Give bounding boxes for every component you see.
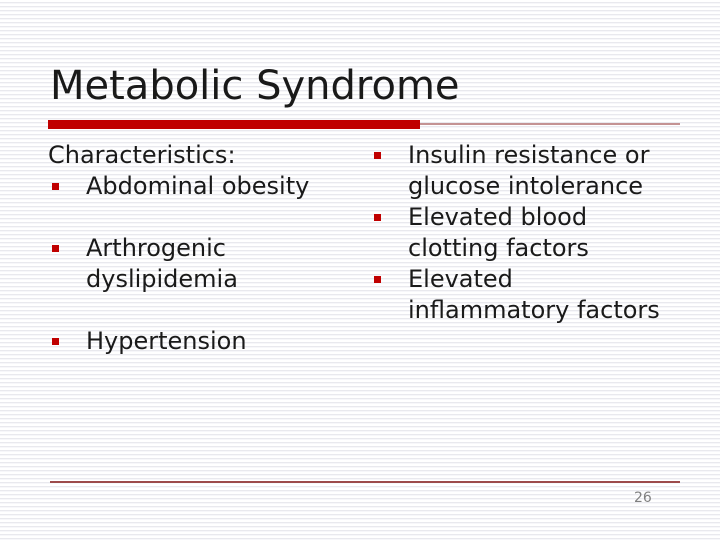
list-item-label: Elevated inflammatory factors <box>408 265 660 324</box>
square-bullet-icon <box>374 152 381 159</box>
list-item-label: Hypertension <box>86 327 247 355</box>
list-item-label: Abdominal obesity <box>86 172 309 200</box>
page-number: 26 <box>634 489 674 507</box>
list-item: Insulin resistance or glucose intoleranc… <box>368 140 668 202</box>
list-item: Abdominal obesity <box>46 171 346 202</box>
list-item-label: Arthrogenic dyslipidemia <box>86 234 238 293</box>
title-block: Metabolic Syndrome <box>50 62 690 110</box>
square-bullet-icon <box>52 183 59 190</box>
page-title: Metabolic Syndrome <box>50 62 690 110</box>
footer-rule <box>50 481 680 483</box>
list-item: Elevated inflammatory factors <box>368 264 668 326</box>
characteristics-heading: Characteristics: <box>46 140 346 171</box>
title-underline-rule <box>48 120 680 129</box>
list-item: Hypertension <box>46 326 346 357</box>
list-item-label: Elevated blood clotting factors <box>408 203 589 262</box>
square-bullet-icon <box>374 276 381 283</box>
square-bullet-icon <box>374 214 381 221</box>
square-bullet-icon <box>52 245 59 252</box>
list-item: Arthrogenic dyslipidemia <box>46 233 346 295</box>
square-bullet-icon <box>52 338 59 345</box>
title-rule-thick <box>48 120 420 129</box>
bullet-list-left: Abdominal obesity Arthrogenic dyslipidem… <box>46 171 346 357</box>
list-item-label: Insulin resistance or glucose intoleranc… <box>408 141 649 200</box>
list-item: Elevated blood clotting factors <box>368 202 668 264</box>
slide-body: Characteristics: Abdominal obesity Arthr… <box>0 140 720 470</box>
slide-canvas: Metabolic Syndrome Characteristics: Abdo… <box>0 0 720 540</box>
content-column-left: Characteristics: Abdominal obesity Arthr… <box>46 140 346 357</box>
bullet-list-right: Insulin resistance or glucose intoleranc… <box>368 140 668 326</box>
content-column-right: Insulin resistance or glucose intoleranc… <box>368 140 668 326</box>
